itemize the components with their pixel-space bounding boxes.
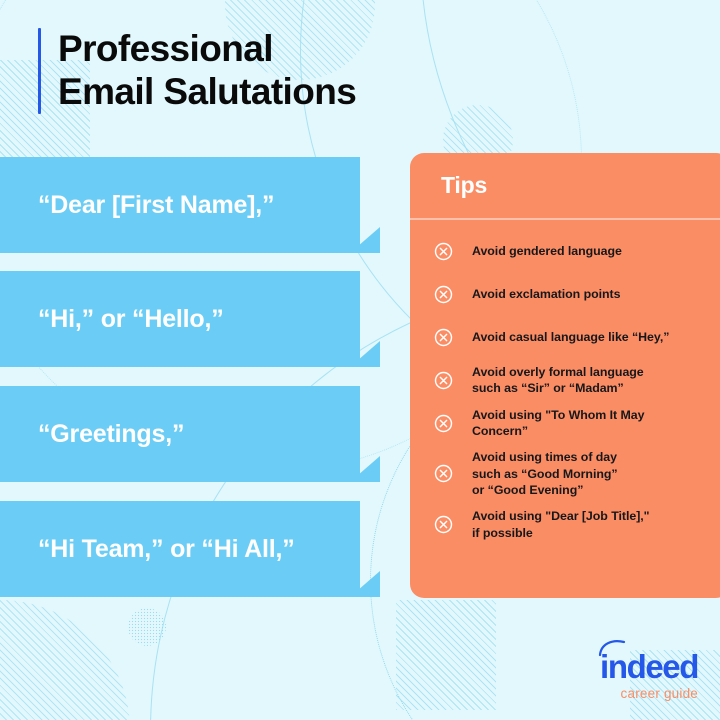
tip-item: Avoid using "Dear [Job Title]," if possi…	[428, 508, 718, 542]
title-accent-bar	[38, 28, 41, 114]
circle-x-icon	[434, 242, 453, 261]
indeed-logo[interactable]: indeed career guide	[600, 650, 698, 701]
tip-text: Avoid using "To Whom It May Concern”	[472, 407, 644, 440]
salutation-bubble-3[interactable]: “Greetings,”	[0, 386, 360, 482]
tips-panel: Tips Avoid gendered language	[410, 153, 720, 598]
tip-text: Avoid gendered language	[472, 243, 622, 260]
infographic-canvas: Professional Email Salutations “Dear [Fi…	[0, 0, 720, 720]
tip-item: Avoid casual language like “Hey,”	[428, 320, 718, 354]
tip-item: Avoid gendered language	[428, 234, 718, 268]
bubble-tail	[350, 341, 380, 367]
circle-x-icon	[434, 515, 453, 534]
tip-item: Avoid using times of day such as “Good M…	[428, 449, 718, 499]
salutation-label: “Dear [First Name],”	[0, 191, 274, 220]
tip-item: Avoid using "To Whom It May Concern”	[428, 406, 718, 440]
circle-x-icon	[434, 464, 453, 483]
bubble-tail	[350, 456, 380, 482]
bubble-tail	[350, 227, 380, 253]
page-title: Professional Email Salutations	[38, 28, 356, 114]
salutation-bubble-4[interactable]: “Hi Team,” or “Hi All,”	[0, 501, 360, 597]
tip-text: Avoid using times of day such as “Good M…	[472, 449, 618, 499]
circle-x-icon	[434, 285, 453, 304]
tips-list: Avoid gendered language Avoid exclamatio…	[410, 220, 720, 542]
circle-x-icon	[434, 371, 453, 390]
salutation-bubble-1[interactable]: “Dear [First Name],”	[0, 157, 360, 253]
background-dot-circle	[128, 608, 166, 646]
logo-tagline: career guide	[600, 687, 698, 701]
tip-text: Avoid exclamation points	[472, 286, 620, 303]
logo-wordmark-container: indeed	[600, 650, 698, 683]
tips-header: Tips	[410, 153, 720, 218]
tip-text: Avoid using "Dear [Job Title]," if possi…	[472, 508, 650, 541]
title-text: Professional Email Salutations	[58, 28, 356, 114]
salutation-label: “Greetings,”	[0, 420, 184, 449]
tip-text: Avoid overly formal language such as “Si…	[472, 364, 644, 397]
salutation-label: “Hi Team,” or “Hi All,”	[0, 535, 295, 564]
tips-title: Tips	[441, 172, 487, 199]
indeed-swoosh-icon	[598, 639, 628, 657]
tip-item: Avoid overly formal language such as “Si…	[428, 363, 718, 397]
circle-x-icon	[434, 328, 453, 347]
circle-x-icon	[434, 414, 453, 433]
salutation-bubble-2[interactable]: “Hi,” or “Hello,”	[0, 271, 360, 367]
background-hatch-panel-left	[396, 600, 496, 710]
bubble-tail	[350, 571, 380, 597]
background-hatch-circle-bottom-left	[0, 600, 130, 720]
tip-text: Avoid casual language like “Hey,”	[472, 329, 669, 346]
salutation-label: “Hi,” or “Hello,”	[0, 305, 224, 334]
tip-item: Avoid exclamation points	[428, 277, 718, 311]
